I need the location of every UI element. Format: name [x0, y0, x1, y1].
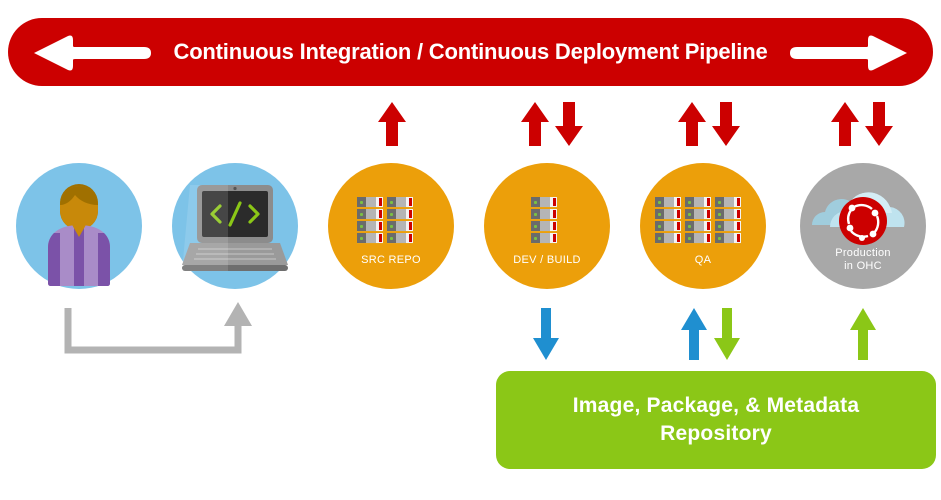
arrow-down-dev-build-to-repo: [531, 306, 561, 362]
server-rack: [655, 197, 681, 244]
laptop-code-icon: [172, 163, 298, 289]
arrow-down-qa: [709, 100, 743, 148]
server-rack-icon: [531, 197, 557, 244]
node-dev-build[interactable]: DEV / BUILD: [484, 163, 610, 289]
node-developer[interactable]: [16, 163, 142, 289]
person-icon: [16, 163, 142, 289]
arrow-up-production: [828, 100, 862, 148]
arrow-down-repo-to-qa: [712, 306, 742, 362]
node-production[interactable]: Production in OHC: [800, 163, 926, 289]
cloud-openshift-icon: [800, 163, 926, 289]
arrow-up-src-repo: [375, 100, 409, 148]
node-src-repo[interactable]: SRC REPO: [328, 163, 454, 289]
arrow-down-dev-build: [552, 100, 586, 148]
server-rack: [357, 197, 383, 244]
repository-label-line2: Repository: [660, 422, 772, 445]
cicd-pipeline-diagram: Continuous Integration / Continuous Depl…: [0, 0, 941, 500]
server-rack: [715, 197, 741, 244]
node-label-qa: QA: [640, 254, 766, 267]
repository-label: Image, Package, & Metadata Repository: [573, 392, 860, 448]
server-rack: [387, 197, 413, 244]
developer-feedback-loop: [60, 300, 260, 362]
server-rack-icon: [655, 197, 741, 244]
server-rack-icon: [357, 197, 413, 244]
server-rack: [531, 197, 557, 244]
arrow-down-production: [862, 100, 896, 148]
arrow-up-dev-build: [518, 100, 552, 148]
arrow-up-qa: [675, 100, 709, 148]
node-label-dev-build: DEV / BUILD: [484, 254, 610, 267]
repository-box[interactable]: Image, Package, & Metadata Repository: [496, 371, 936, 469]
arrow-up-qa-to-repo: [679, 306, 709, 362]
node-workstation[interactable]: [172, 163, 298, 289]
server-rack: [685, 197, 711, 244]
node-label-src-repo: SRC REPO: [328, 254, 454, 267]
node-qa[interactable]: QA: [640, 163, 766, 289]
arrow-right-icon: [789, 35, 909, 71]
repository-label-line1: Image, Package, & Metadata: [573, 394, 860, 417]
pipeline-banner: Continuous Integration / Continuous Depl…: [8, 18, 933, 86]
arrow-up-repo-to-production: [848, 306, 878, 362]
